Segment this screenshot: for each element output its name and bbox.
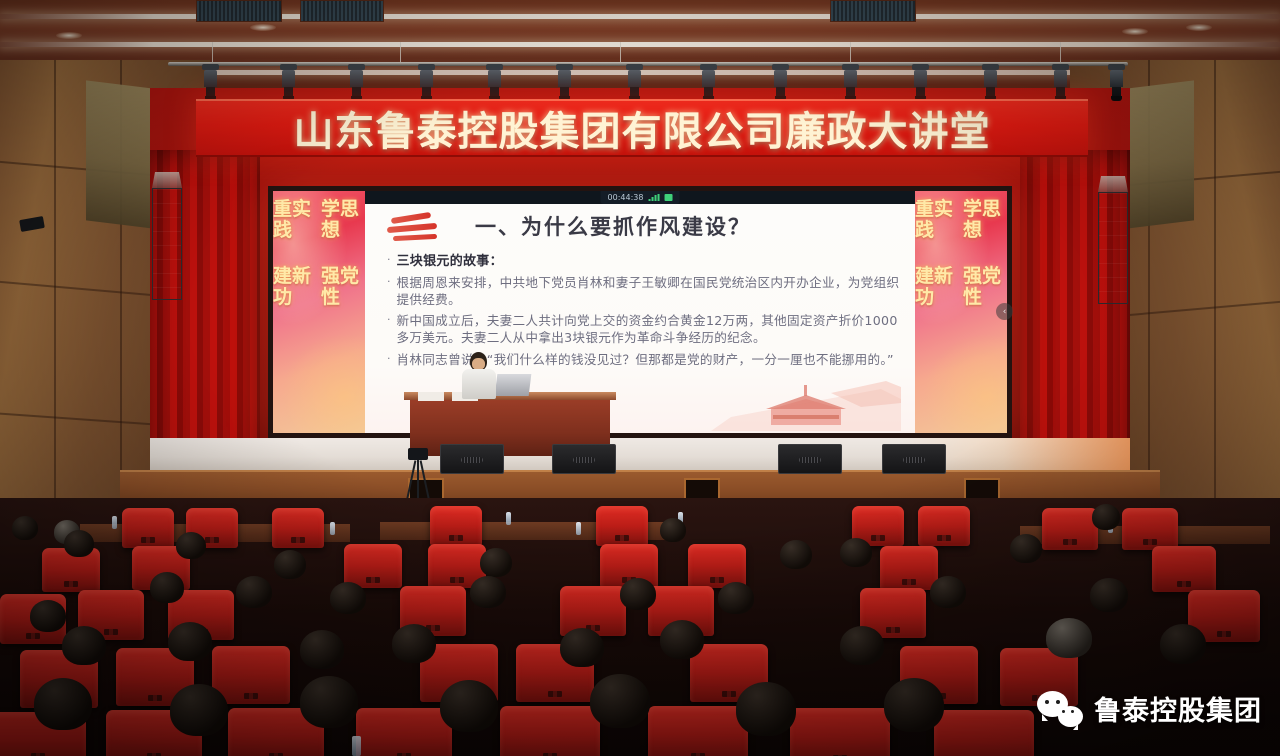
slogan-right-bottom: 强党性 xyxy=(963,266,1007,307)
seat xyxy=(1042,508,1098,550)
audience-member xyxy=(1090,578,1128,612)
audience-member xyxy=(1092,504,1120,530)
laptop xyxy=(495,374,532,396)
audience-member xyxy=(470,576,506,608)
audience-member xyxy=(330,582,366,614)
audience-member xyxy=(840,538,872,567)
slogan-left-top: 重实践 xyxy=(915,199,959,240)
audience-member xyxy=(736,682,796,736)
slogan-column-right: 学思想 强党性 xyxy=(321,199,365,433)
battery-icon xyxy=(664,194,672,201)
slogan-left-bottom: 建新功 xyxy=(915,266,959,307)
list-item: · 根据周恩来安排，中共地下党员肖林和妻子王敏卿在国民党统治区内开办企业，为党组… xyxy=(387,275,901,308)
stage-spotlight xyxy=(556,64,573,101)
audience-member xyxy=(480,548,512,577)
list-item: · 新中国成立后，夫妻二人共计向党上交的资金约合黄金12万两，其他固定资产折价1… xyxy=(387,313,901,346)
stage-spotlight xyxy=(486,64,503,101)
slogan-right-bottom: 强党性 xyxy=(321,266,365,307)
water-bottle xyxy=(506,512,511,525)
seat xyxy=(1152,546,1216,592)
audience-member xyxy=(1160,624,1206,664)
audience-member xyxy=(440,680,498,732)
audience-member xyxy=(300,676,358,728)
bullet-dot-icon: · xyxy=(387,253,391,270)
audience-member xyxy=(168,622,212,661)
bullet-text: 三块银元的故事： xyxy=(397,253,503,270)
slogan-column-left: 重实践 建新功 xyxy=(273,199,317,433)
seat xyxy=(560,586,626,636)
bullet-dot-icon: · xyxy=(387,313,391,346)
stage-spotlight xyxy=(982,64,999,101)
desk-document xyxy=(418,392,444,401)
banner-title: 山东鲁泰控股集团有限公司廉政大讲堂 xyxy=(294,99,991,157)
seat xyxy=(212,646,290,704)
slogan-column-left: 重实践 建新功 xyxy=(915,199,959,433)
stage-spotlight xyxy=(418,64,435,101)
audience-member xyxy=(930,576,966,608)
audience-member xyxy=(1010,534,1042,563)
audience-member xyxy=(884,678,944,732)
seat xyxy=(790,708,890,756)
stage-monitor-speaker xyxy=(778,444,842,474)
audience-member xyxy=(274,550,306,579)
audience-member xyxy=(64,530,94,557)
audience-member xyxy=(236,576,272,608)
side-panel-left: 重实践 建新功 学思想 强党性 xyxy=(273,191,365,433)
wechat-icon xyxy=(1037,691,1083,727)
seat xyxy=(122,508,174,548)
cpc-party-emblem-icon xyxy=(387,211,443,245)
water-bottle xyxy=(112,516,117,529)
stage-spotlight xyxy=(772,64,789,101)
audience-member xyxy=(150,572,184,603)
stage-spotlight xyxy=(1052,64,1069,101)
seat xyxy=(934,710,1034,756)
slogan-left-bottom: 建新功 xyxy=(273,266,317,307)
bullet-dot-icon: · xyxy=(387,352,391,369)
stage-spotlight xyxy=(912,64,929,101)
stage-monitor-speaker xyxy=(882,444,946,474)
seat xyxy=(648,706,748,756)
audience-member xyxy=(718,582,754,614)
seat xyxy=(356,708,452,756)
stage-spotlight xyxy=(1108,64,1125,101)
audience-member xyxy=(660,620,704,659)
water-bottle xyxy=(576,522,581,535)
water-bottle xyxy=(352,736,361,756)
seat xyxy=(430,506,482,546)
auditorium-photo: 山东鲁泰控股集团有限公司廉政大讲堂 重实践 建新功 学思想 强党性 重实践 xyxy=(0,0,1280,756)
osd-timer: 00:44:38 xyxy=(608,193,644,202)
audience-member xyxy=(660,518,686,542)
audience-member xyxy=(780,540,812,569)
audience-member xyxy=(300,630,344,669)
stage-monitor-speaker xyxy=(440,444,504,474)
stage-spotlight xyxy=(202,64,219,101)
audience-member xyxy=(620,578,656,610)
seat xyxy=(272,508,324,548)
seat xyxy=(596,506,648,546)
audience-member xyxy=(392,624,436,663)
list-item: · 三块银元的故事： xyxy=(387,253,901,270)
audience-member xyxy=(30,600,66,632)
audience-member xyxy=(560,628,604,667)
osd-status: 00:44:38 xyxy=(601,191,680,204)
water-bottle xyxy=(330,522,335,535)
slogan-right-top: 学思想 xyxy=(321,199,365,240)
stage-spotlight xyxy=(700,64,717,101)
led-screen: 重实践 建新功 学思想 强党性 重实践 建新功 学思想 强党性 xyxy=(268,186,1012,438)
audience-member xyxy=(170,684,228,736)
seat xyxy=(918,506,970,546)
audience-member xyxy=(12,516,38,540)
tiananmen-watermark-icon xyxy=(711,369,901,431)
slide-title: 一、为什么要抓作风建设？ xyxy=(475,211,895,241)
seat xyxy=(500,706,600,756)
bullet-text: 根据周恩来安排，中共地下党员肖林和妻子王敏卿在国民党统治区内开办企业，为党组织提… xyxy=(397,275,902,308)
side-panel-right: 重实践 建新功 学思想 强党性 xyxy=(915,191,1007,433)
stage-spotlight xyxy=(626,64,643,101)
seat xyxy=(344,544,402,588)
seat xyxy=(880,546,938,590)
audience-member xyxy=(840,626,884,665)
stage-spotlight xyxy=(348,64,365,101)
signal-icon xyxy=(648,194,659,201)
stage-spotlight xyxy=(842,64,859,101)
watermark-account-name: 鲁泰控股集团 xyxy=(1094,689,1262,728)
bullet-text: 新中国成立后，夫妻二人共计向党上交的资金约合黄金12万两，其他固定资产折价100… xyxy=(397,313,902,346)
seat xyxy=(1122,508,1178,550)
event-banner: 山东鲁泰控股集团有限公司廉政大讲堂 xyxy=(196,99,1088,157)
presenter xyxy=(462,352,496,398)
audience-member xyxy=(176,532,206,559)
audience-member xyxy=(62,626,106,665)
slide-prev-button[interactable]: ‹ xyxy=(996,303,1013,320)
audience-member xyxy=(590,674,650,728)
audience-member xyxy=(34,678,92,730)
wechat-watermark: 鲁泰控股集团 xyxy=(1037,689,1262,728)
audience-member xyxy=(1046,618,1092,658)
slogan-left-top: 重实践 xyxy=(273,199,317,240)
slogan-right-top: 学思想 xyxy=(963,199,1007,240)
line-array-speaker-right xyxy=(1098,176,1128,304)
stage-spotlight xyxy=(280,64,297,101)
stage-monitor-speaker xyxy=(552,444,616,474)
line-array-speaker-left xyxy=(152,172,182,300)
bullet-dot-icon: · xyxy=(387,275,391,308)
